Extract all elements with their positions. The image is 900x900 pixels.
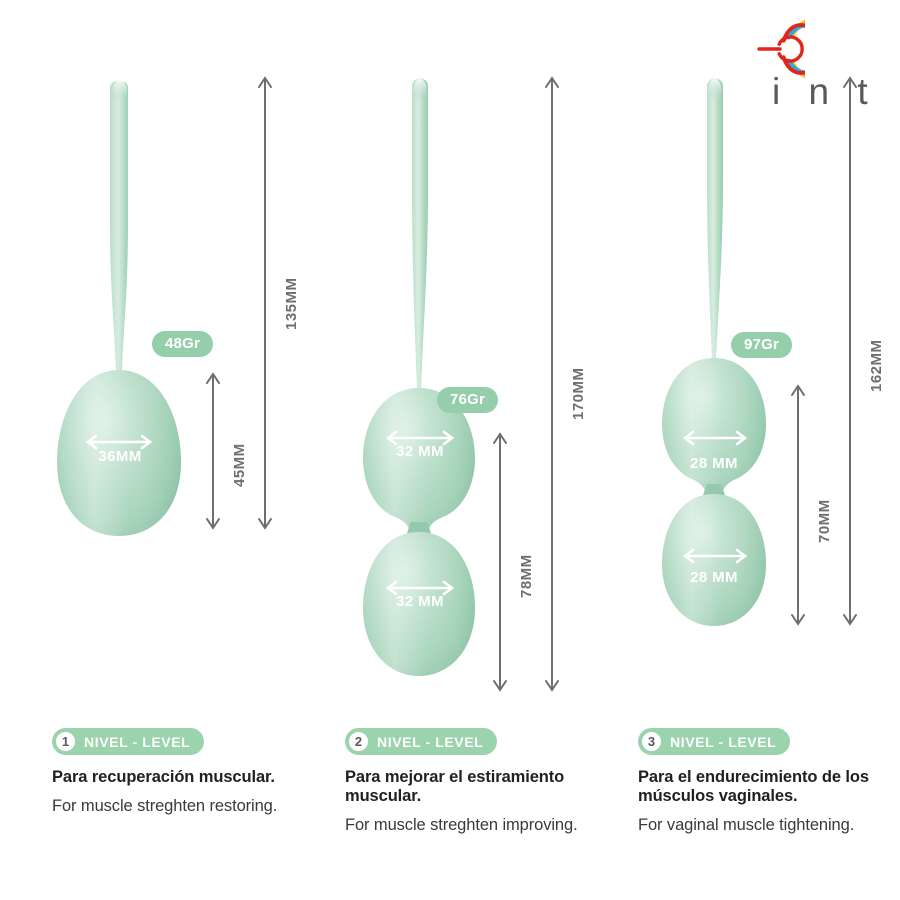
level-number: 3 xyxy=(641,731,662,752)
level-badge-2: 2 NIVEL - LEVEL xyxy=(345,728,497,755)
description-en: For vaginal muscle tightening. xyxy=(638,815,900,835)
level-label: NIVEL - LEVEL xyxy=(670,734,776,750)
infographic-canvas: i n t n s e xyxy=(0,0,900,900)
description-en: For muscle streghten improving. xyxy=(345,815,635,835)
description-es: Para recuperación muscular. xyxy=(52,768,342,787)
weight-badge: 97Gr xyxy=(731,332,792,358)
level-number: 2 xyxy=(348,731,369,752)
product-level-2: 32 MM 32 MM 76Gr 78MM 170MM xyxy=(300,0,600,720)
level-label: NIVEL - LEVEL xyxy=(84,734,190,750)
dimension-line-total-length xyxy=(833,72,867,630)
dimension-line-total-length xyxy=(535,72,569,696)
level-info-2: 2 NIVEL - LEVEL Para mejorar el estirami… xyxy=(345,728,635,835)
level-label: NIVEL - LEVEL xyxy=(377,734,483,750)
level-number: 1 xyxy=(55,731,76,752)
product-level-1: 36MM 48Gr 45MM 135MM xyxy=(0,0,300,720)
dimension-label-total-length: 135MM xyxy=(283,277,300,330)
dimension-label-body-height: 70MM xyxy=(816,499,833,543)
description-es: Para el endurecimiento de los músculos v… xyxy=(638,768,900,806)
dimension-line-body-height xyxy=(781,380,815,630)
level-badge-1: 1 NIVEL - LEVEL xyxy=(52,728,204,755)
ball-width-label-upper: 32 MM xyxy=(396,443,444,460)
level-badge-3: 3 NIVEL - LEVEL xyxy=(638,728,790,755)
description-es: Para mejorar el estiramiento muscular. xyxy=(345,768,635,806)
dimension-line-body-height xyxy=(483,428,517,696)
dimension-line-total-length xyxy=(248,72,282,534)
dimension-label-body-height: 78MM xyxy=(518,554,535,598)
ball-width-label-lower: 32 MM xyxy=(396,593,444,610)
weight-badge: 76Gr xyxy=(437,387,498,413)
level-info-3: 3 NIVEL - LEVEL Para el endurecimiento d… xyxy=(638,728,900,835)
ball-width-label-lower: 28 MM xyxy=(690,569,738,586)
ball-width-label: 36MM xyxy=(98,448,141,465)
weight-badge: 48Gr xyxy=(152,331,213,357)
description-en: For muscle streghten restoring. xyxy=(52,796,342,816)
dimension-label-body-height: 45MM xyxy=(231,443,248,487)
level-info-1: 1 NIVEL - LEVEL Para recuperación muscul… xyxy=(52,728,342,816)
dimension-label-total-length: 170MM xyxy=(570,367,587,420)
ball-width-label-upper: 28 MM xyxy=(690,455,738,472)
dimension-label-total-length: 162MM xyxy=(868,339,885,392)
product-level-3: 28 MM 28 MM 97Gr 70MM 162MM xyxy=(600,0,900,720)
dimension-line-body-height xyxy=(196,368,230,534)
